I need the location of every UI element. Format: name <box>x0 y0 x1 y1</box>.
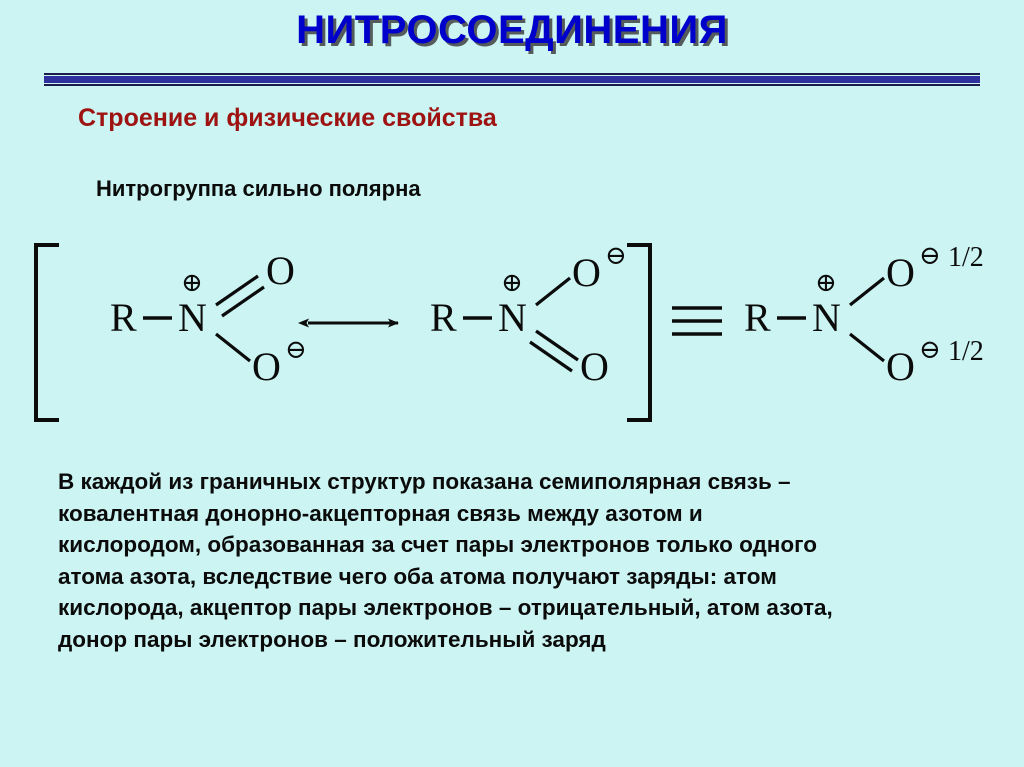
equivalence-symbol-icon <box>672 308 722 334</box>
title-divider <box>44 73 980 86</box>
resonance-structure-1: R N ⊕ O O ⊖ <box>110 248 307 389</box>
bracket-right-icon <box>627 245 650 420</box>
structure3-top-oxygen-label: O <box>886 250 915 295</box>
structure2-oxygen-minus-charge-icon: ⊖ <box>605 241 627 270</box>
divider-rule-bottom <box>44 84 980 86</box>
structure3-bottom-oxygen-minus-charge-icon: ⊖ <box>919 335 941 364</box>
structure2-n-o-double-bond <box>530 331 578 371</box>
paragraph-line: кислородом, образованная за счет пары эл… <box>58 529 968 561</box>
structure1-n-label: N <box>178 295 207 340</box>
structure3-r-label: R <box>744 295 771 340</box>
structure2-bottom-oxygen-label: O <box>580 344 609 389</box>
divider-rule-thick <box>44 76 980 83</box>
divider-rule-top <box>44 73 980 75</box>
paragraph-line: донор пары электронов – положительный за… <box>58 624 968 656</box>
structure3-bottom-oxygen-fraction: 1/2 <box>948 336 984 367</box>
paragraph-line: В каждой из граничных структур показана … <box>58 466 968 498</box>
delocalized-structure: R N ⊕ O ⊖ 1/2 O ⊖ 1/2 <box>744 241 984 389</box>
structure1-oxygen-minus-charge-icon: ⊖ <box>285 335 307 364</box>
structure2-n-label: N <box>498 295 527 340</box>
sub-heading: Нитрогруппа сильно полярна <box>96 176 421 202</box>
structure2-top-oxygen-label: O <box>572 250 601 295</box>
paragraph-line: кислорода, акцептор пары электронов – от… <box>58 592 968 624</box>
body-paragraph: В каждой из граничных структур показана … <box>58 466 968 655</box>
paragraph-line: ковалентная донорно-акцепторная связь ме… <box>58 498 968 530</box>
structure3-top-bond <box>850 278 884 305</box>
bracket-left-icon <box>36 245 59 420</box>
structure3-n-label: N <box>812 295 841 340</box>
structure3-top-oxygen-minus-charge-icon: ⊖ <box>919 241 941 270</box>
nitro-group-resonance-diagram: R N ⊕ O O ⊖ R N ⊕ O ⊖ <box>0 228 1024 438</box>
structure1-n-o-single-bond <box>216 334 250 361</box>
resonance-structure-2: R N ⊕ O ⊖ O <box>430 241 627 389</box>
structure3-n-plus-charge-icon: ⊕ <box>815 268 837 297</box>
structure2-n-o-single-bond <box>536 278 570 305</box>
structure1-top-oxygen-label: O <box>266 248 295 293</box>
structure2-n-plus-charge-icon: ⊕ <box>501 268 523 297</box>
structure1-r-label: R <box>110 295 137 340</box>
structure3-top-oxygen-fraction: 1/2 <box>948 242 984 273</box>
paragraph-line: атома азота, вследствие чего оба атома п… <box>58 561 968 593</box>
structure1-n-plus-charge-icon: ⊕ <box>181 268 203 297</box>
structure3-bottom-oxygen-label: O <box>886 344 915 389</box>
section-heading: Строение и физические свойства <box>78 104 497 133</box>
resonance-structures-svg: R N ⊕ O O ⊖ R N ⊕ O ⊖ <box>0 228 1024 438</box>
page-title: НИТРОСОЕДИНЕНИЯ <box>0 8 1024 53</box>
structure1-n-o-double-bond <box>216 276 264 316</box>
structure2-r-label: R <box>430 295 457 340</box>
structure3-bottom-bond <box>850 334 884 361</box>
structure1-bottom-oxygen-label: O <box>252 344 281 389</box>
